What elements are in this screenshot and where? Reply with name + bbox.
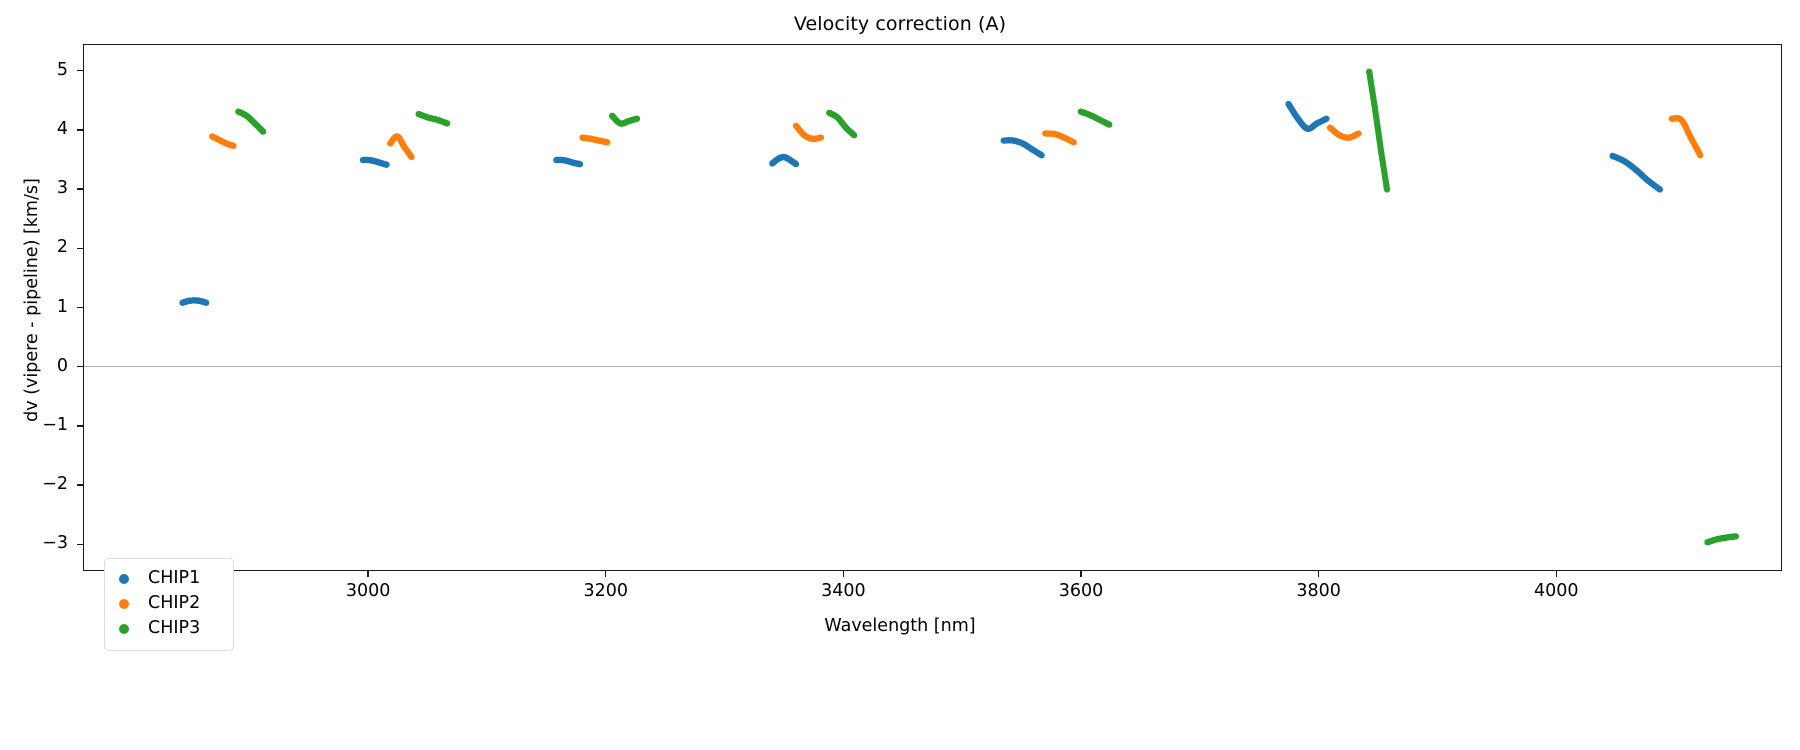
segment (1285, 101, 1329, 132)
series-chip1 (179, 101, 1663, 306)
data-point (577, 161, 583, 167)
legend-item-chip3[interactable]: CHIP3 (105, 616, 233, 641)
x-tick-mark (1318, 571, 1319, 577)
data-point (1106, 122, 1112, 128)
data-point (851, 132, 857, 138)
data-point (793, 161, 799, 167)
x-tick-label: 3400 (783, 581, 903, 601)
segment (793, 123, 824, 142)
data-point (1039, 152, 1045, 158)
x-tick-mark (367, 571, 368, 577)
matplotlib-figure: Velocity correction (A) 543210−1−2−3 280… (0, 0, 1800, 750)
x-tick-label: 3800 (1259, 581, 1379, 601)
segment (1327, 124, 1362, 140)
y-axis-label: dv (vipere - pipeline) [km/s] (22, 40, 42, 560)
scatter-canvas (84, 45, 1781, 570)
x-tick-mark (843, 571, 844, 577)
data-point (1384, 186, 1390, 192)
data-point (1697, 152, 1703, 158)
data-point (384, 162, 390, 168)
legend-marker-icon (119, 624, 129, 634)
segment (1704, 533, 1739, 545)
series-chip3 (235, 68, 1739, 545)
segment (1078, 109, 1113, 128)
legend-item-chip2[interactable]: CHIP2 (105, 591, 233, 616)
x-axis-label: Wavelength [nm] (0, 616, 1800, 636)
data-point (604, 139, 610, 145)
segment (1609, 153, 1663, 193)
segment (179, 297, 209, 306)
data-point (1657, 186, 1663, 192)
data-point (444, 120, 450, 126)
x-tick-label: 3200 (546, 581, 666, 601)
x-tick-mark (1556, 571, 1557, 577)
segment (1669, 115, 1704, 158)
data-point (1071, 139, 1077, 145)
data-point (203, 300, 209, 306)
segment (1001, 137, 1045, 158)
data-point (634, 116, 640, 122)
legend-label: CHIP3 (148, 620, 200, 638)
x-tick-label: 3600 (1021, 581, 1141, 601)
x-tick-mark (1080, 571, 1081, 577)
x-tick-label: 4000 (1496, 581, 1616, 601)
segment (235, 109, 266, 135)
segment (416, 111, 451, 127)
data-point (260, 129, 266, 135)
plot-area (83, 44, 1782, 571)
segment (1042, 130, 1077, 145)
segment (1366, 68, 1390, 192)
segment (769, 154, 799, 167)
data-point (818, 135, 824, 141)
x-tick-label: 3000 (308, 581, 428, 601)
data-point (1355, 130, 1361, 136)
segment (387, 133, 415, 160)
legend-label: CHIP1 (148, 570, 200, 588)
legend-item-chip1[interactable]: CHIP1 (105, 566, 233, 591)
page-title: Velocity correction (A) (0, 13, 1800, 35)
legend-marker-icon (119, 599, 129, 609)
segment (553, 157, 583, 167)
x-tick-mark (605, 571, 606, 577)
segment (579, 135, 610, 146)
data-point (1323, 116, 1329, 122)
legend-label: CHIP2 (148, 595, 200, 613)
data-point (408, 154, 414, 160)
segment (209, 133, 237, 149)
segment (609, 113, 640, 127)
legend-marker-icon (119, 574, 129, 584)
segment (360, 157, 390, 168)
data-point (1733, 533, 1739, 539)
data-point (230, 143, 236, 149)
legend-box[interactable]: CHIP1CHIP2CHIP3 (104, 558, 234, 651)
segment (826, 110, 857, 139)
